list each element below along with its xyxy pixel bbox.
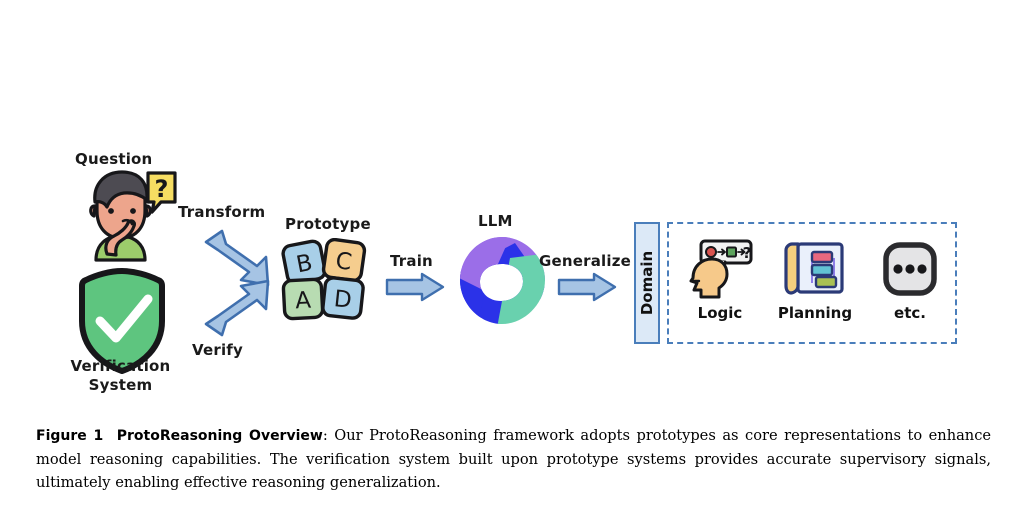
prototype-block-c: C: [323, 239, 366, 282]
figure-caption: Figure 1 ProtoReasoning Overview: Our Pr…: [36, 424, 991, 494]
gantt-bar-teal: [812, 265, 832, 275]
caption-title: ProtoReasoning Overview: [117, 428, 323, 444]
block-letter-d: D: [333, 286, 353, 314]
gantt-bar-pink: [812, 252, 832, 262]
llm-ring-logo-icon: [455, 233, 550, 328]
domain-item-etc-label: etc.: [867, 304, 953, 322]
question-mark-text: ?: [155, 175, 169, 203]
logic-red-circle-icon: [706, 247, 716, 257]
caption-figure-number: Figure 1: [36, 428, 103, 444]
logic-question-mark: ?: [743, 244, 752, 262]
domain-item-logic-label: Logic: [677, 304, 763, 322]
blueprint-roll-icon: [786, 244, 798, 293]
question-speech-bubble: ?: [148, 173, 175, 212]
thinking-person-icon: ?: [66, 166, 178, 264]
block-letter-a: A: [295, 288, 312, 315]
prototype-block-b: B: [282, 240, 327, 285]
domain-bar: Domain: [634, 222, 660, 344]
domain-item-planning: Planning: [772, 236, 858, 322]
verification-label-line1: Verification: [71, 357, 171, 375]
prototype-block-a: A: [283, 279, 323, 319]
verification-label-line2: System: [89, 376, 153, 394]
generalize-label: Generalize: [539, 252, 631, 270]
head-thinking-logic-icon: ?: [677, 236, 763, 302]
generalize-arrow-icon: [556, 272, 618, 302]
domain-item-planning-label: Planning: [772, 304, 858, 322]
logic-head-profile-icon: [691, 259, 727, 297]
train-label: Train: [390, 252, 433, 270]
llm-label: LLM: [478, 212, 513, 230]
domain-item-logic: ? Logic: [677, 236, 763, 322]
logic-green-square-icon: [727, 248, 736, 257]
three-dots-icon: [867, 236, 953, 302]
domain-item-etc: etc.: [867, 236, 953, 322]
domain-label: Domain: [638, 251, 656, 315]
verification-system-label: Verification System: [58, 357, 183, 395]
protoreasoning-overview-figure: Question ? Verification System Transform…: [0, 0, 1024, 410]
verify-arrow-icon: [200, 278, 272, 338]
transform-label: Transform: [178, 203, 265, 221]
prototype-label: Prototype: [285, 215, 371, 233]
train-arrow-icon: [384, 272, 446, 302]
prototype-block-d: D: [322, 277, 364, 319]
prototype-blocks-icon: B C A D: [279, 238, 369, 323]
verify-label: Verify: [192, 341, 243, 359]
blueprint-gantt-icon: [772, 236, 858, 302]
gantt-bar-olive: [816, 277, 836, 287]
